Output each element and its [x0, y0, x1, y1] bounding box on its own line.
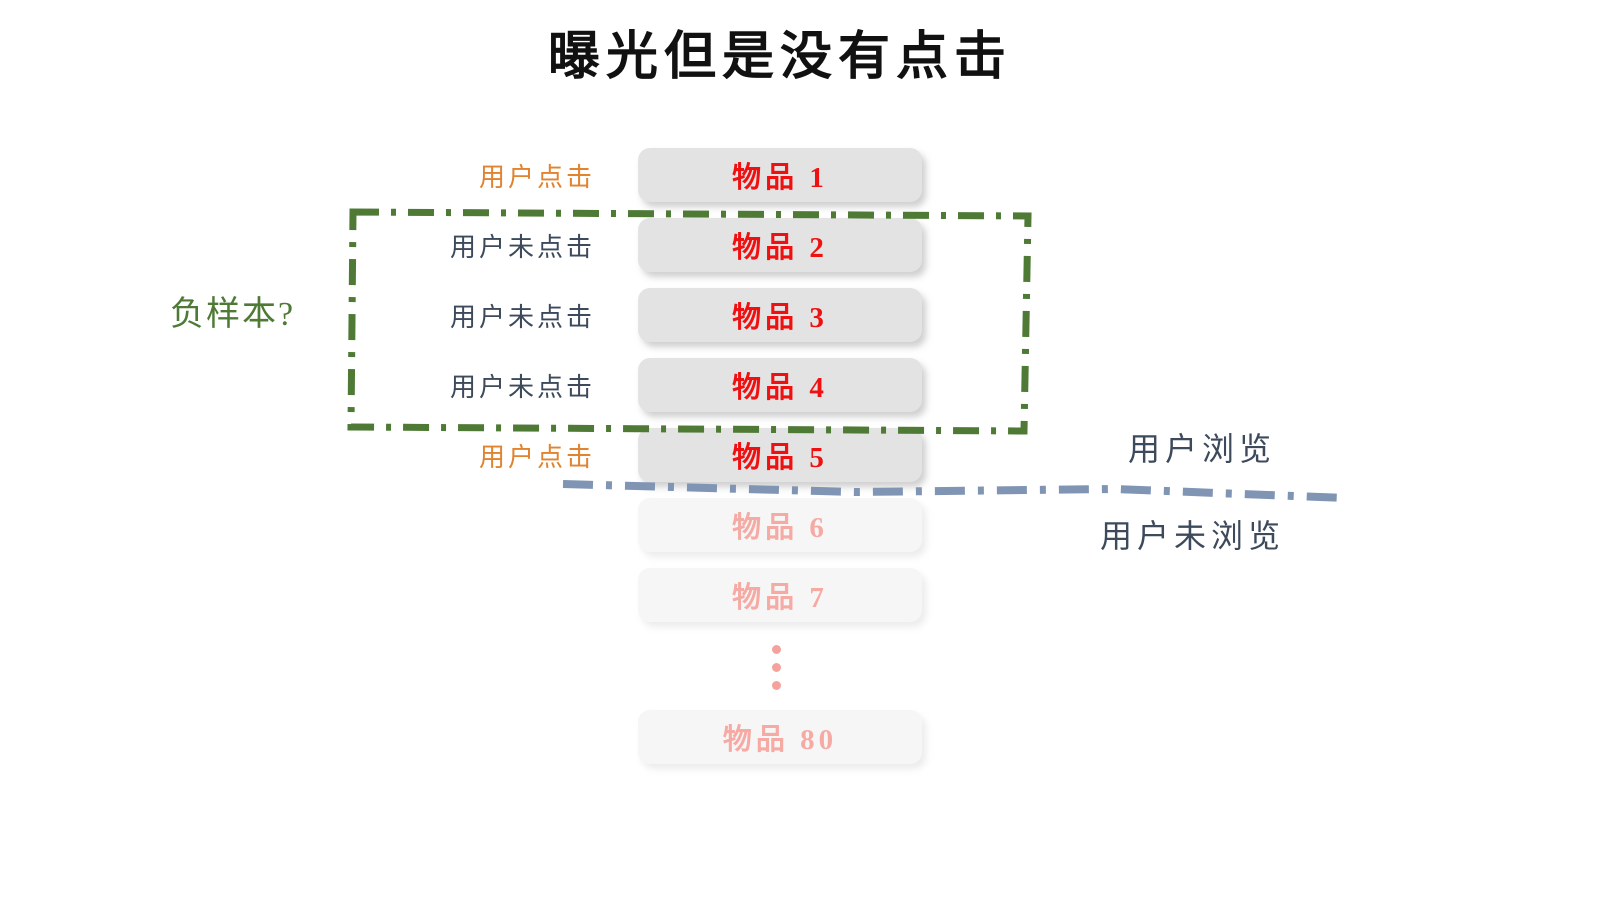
item-card[interactable]: 物品 3	[638, 288, 922, 342]
item-card-label: 物品 7	[732, 574, 828, 616]
item-card-label: 物品 6	[732, 504, 828, 546]
item-card-label: 物品 80	[723, 716, 837, 758]
item-card-label: 物品 4	[732, 364, 828, 406]
item-card[interactable]: 物品 80	[638, 710, 922, 764]
item-card[interactable]: 物品 5	[638, 428, 922, 482]
page-title: 曝光但是没有点击	[0, 14, 1560, 89]
item-card[interactable]: 物品 1	[638, 148, 922, 202]
item-note-2: 用户未点击	[355, 227, 595, 264]
item-note-5: 用户点击	[355, 437, 595, 474]
item-note-1: 用户点击	[355, 157, 595, 194]
item-card-label: 物品 3	[732, 294, 828, 336]
item-card-label: 物品 1	[732, 154, 828, 196]
item-card[interactable]: 物品 7	[638, 568, 922, 622]
item-card[interactable]: 物品 6	[638, 498, 922, 552]
item-card-label: 物品 5	[732, 434, 828, 476]
item-card[interactable]: 物品 2	[638, 218, 922, 272]
not-browsed-label: 用户未浏览	[1100, 511, 1285, 557]
diagram-canvas: 曝光但是没有点击 用户点击物品 1用户未点击物品 2用户未点击物品 3用户未点击…	[0, 0, 1600, 897]
item-card-label: 物品 2	[732, 224, 828, 266]
ellipsis-dot	[772, 663, 781, 672]
item-card[interactable]: 物品 4	[638, 358, 922, 412]
vertical-ellipsis-icon	[766, 645, 786, 690]
browse-boundary-stroke	[563, 484, 1345, 498]
item-note-3: 用户未点击	[355, 297, 595, 334]
item-note-4: 用户未点击	[355, 367, 595, 404]
negative-sample-label: 负样本?	[170, 286, 295, 335]
ellipsis-dot	[772, 681, 781, 690]
ellipsis-dot	[772, 645, 781, 654]
browsed-label: 用户浏览	[1128, 424, 1276, 470]
